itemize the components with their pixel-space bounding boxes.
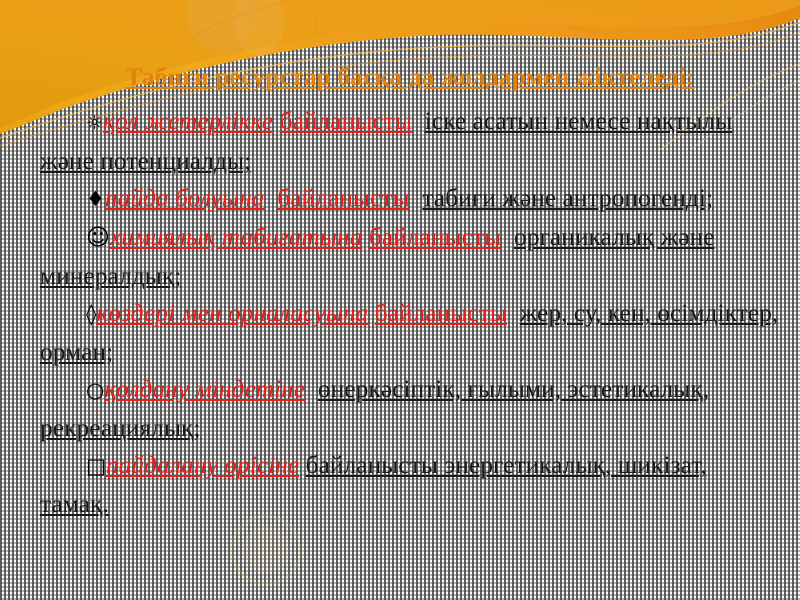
bullet-keyword-italic: көздері мен орналасуына: [96, 298, 368, 327]
smiley-face-bullet-icon: ☺: [86, 225, 110, 251]
list-item: □пайдалану өрісіне байланысты энергетика…: [40, 446, 780, 522]
bullet-keyword-plain: байланысты: [369, 222, 501, 251]
presentation-slide: Табиғи ресурстар басқа да жолдармен жікт…: [0, 0, 800, 600]
slide-content: Табиғи ресурстар басқа да жолдармен жікт…: [0, 0, 800, 600]
bullet-keyword-italic: қол жетерлікке: [103, 106, 273, 135]
hollow-circle-bullet-icon: ○: [86, 378, 104, 402]
bullet-keyword-plain: байланысты: [277, 183, 409, 212]
list-item: ○қолдану міндетіне өнеркәсіптік, ғылыми,…: [40, 370, 780, 446]
list-item: ♦пайда болуына байланысты табиғи және ан…: [40, 179, 780, 218]
hollow-square-bullet-icon: □: [86, 454, 106, 478]
list-item: ◊көздері мен орналасуына байланысты жер,…: [40, 294, 780, 370]
slide-title: Табиғи ресурстар басқа да жолдармен жікт…: [40, 62, 780, 92]
bullet-keyword-italic: химиялық табиғатына: [110, 222, 362, 251]
sun-bullet-icon: ☼: [86, 112, 103, 134]
bullet-keyword-italic: қолдану міндетіне: [104, 374, 305, 403]
list-item: ☼қол жетерлікке байланысты іске асатын н…: [40, 102, 780, 179]
bullet-list: ☼қол жетерлікке байланысты іске асатын н…: [40, 102, 780, 522]
bullet-keyword-italic: пайдалану өрісіне: [106, 450, 299, 479]
hollow-diamond-bullet-icon: ◊: [86, 302, 96, 326]
list-item: ☺химиялық табиғатына байланысты органика…: [40, 218, 780, 294]
bullet-body-text: табиғи және антропогенді;: [422, 183, 713, 212]
bullet-keyword-plain: байланысты: [375, 298, 507, 327]
bullet-keyword-plain: байланысты: [280, 106, 412, 135]
bullet-keyword-italic: пайда болуына: [105, 183, 265, 212]
black-diamond-bullet-icon: ♦: [86, 187, 105, 211]
